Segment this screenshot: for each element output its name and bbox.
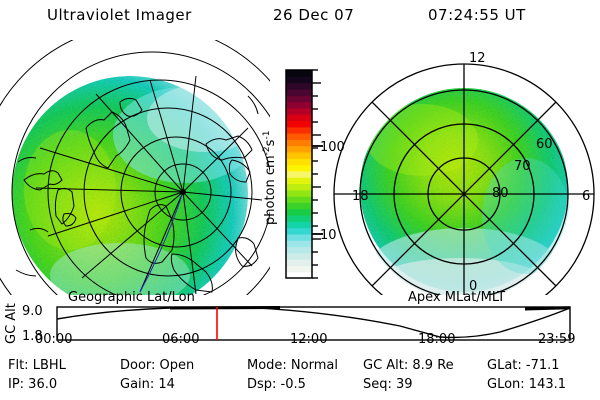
colorbar-unit-text: photon cm-2s-1: [262, 131, 278, 225]
orbit-track-highlight: [170, 308, 280, 309]
colorbar-swatch: [286, 196, 312, 203]
geographic-plot-svg: [0, 40, 270, 295]
time-tick-0600: 06:00: [162, 332, 199, 347]
status-readout: Flt: LBHL Door: Open Mode: Normal GC Alt…: [0, 356, 600, 400]
time-tick-2359: 23:59: [538, 332, 575, 347]
status-dsp: Dsp: -0.5: [247, 377, 306, 392]
observation-time: 07:24:55 UT: [428, 6, 526, 24]
colorbar-swatch: [286, 265, 312, 272]
colorbar-swatch: [286, 152, 312, 159]
colorbar-swatch: [286, 102, 312, 109]
colorbar-swatch: [286, 83, 312, 90]
colorbar-swatch: [286, 190, 312, 197]
colorbar-swatch: [286, 95, 312, 102]
mlt-label-6: 6: [582, 189, 590, 204]
time-tick-1200: 12:00: [290, 332, 327, 347]
apex-plot-svg: 12 6 0 18 60 70 80: [330, 40, 600, 295]
colorbar-swatch: [286, 259, 312, 266]
colorbar-swatch: [286, 76, 312, 83]
colorbar-swatch: [286, 177, 312, 184]
time-tick-0000: 00:00: [35, 332, 72, 347]
mlat-label-60: 60: [536, 137, 553, 152]
colorbar-swatch: [286, 114, 312, 121]
aurora-emission-layer: [12, 76, 263, 295]
instrument-title: Ultraviolet Imager: [47, 6, 192, 24]
colorbar-swatch: [286, 158, 312, 165]
mlt-label-18: 18: [352, 189, 369, 204]
colorbar-swatch: [286, 240, 312, 247]
colorbar-swatch: [286, 127, 312, 134]
colorbar-swatch: [286, 202, 312, 209]
status-ip: IP: 36.0: [8, 377, 57, 392]
status-mode: Mode: Normal: [247, 358, 338, 373]
status-glat: GLat: -71.1: [487, 358, 560, 373]
colorbar-swatch: [286, 171, 312, 178]
colorbar-swatch: [286, 234, 312, 241]
orbit-right-caption: Apex MLat/MLT: [408, 290, 505, 305]
colorbar-ticks: [312, 70, 323, 278]
colorbar-axis-label: photon cm-2s-1: [262, 131, 278, 225]
colorbar-swatch: [286, 89, 312, 96]
colorbar-swatch: [286, 246, 312, 253]
observation-date: 26 Dec 07: [273, 6, 354, 24]
apex-mlat-mlt-dial[interactable]: 12 6 0 18 60 70 80: [330, 40, 600, 295]
ultraviolet-imager-window: Ultraviolet Imager 26 Dec 07 07:24:55 UT: [0, 0, 600, 400]
colorbar-swatch: [286, 209, 312, 216]
status-door: Door: Open: [120, 358, 194, 373]
colorbar-swatch: [286, 228, 312, 235]
status-seq: Seq: 39: [363, 377, 413, 392]
status-row: Flt: LBHL Door: Open Mode: Normal GC Alt…: [0, 358, 600, 377]
colorbar-swatch: [286, 70, 312, 77]
colorbar-swatch: [286, 133, 312, 140]
orbit-y-axis-label: GC Alt: [4, 303, 19, 344]
colorbar-swatch: [286, 183, 312, 190]
colorbar-swatch: [286, 165, 312, 172]
status-flt: Flt: LBHL: [8, 358, 66, 373]
mlat-label-70: 70: [514, 159, 531, 174]
orbit-track-highlight-2: [525, 308, 570, 309]
subsatellite-point: [180, 189, 186, 195]
colorbar-swatch: [286, 120, 312, 127]
orbit-y-tick-high: 9.0: [22, 304, 43, 319]
mlat-label-80: 80: [492, 186, 509, 201]
status-glon: GLon: 143.1: [487, 377, 566, 392]
colorbar-swatch: [286, 215, 312, 222]
colorbar-swatch: [286, 253, 312, 260]
geographic-aurora-image[interactable]: [0, 40, 270, 295]
colorbar-swatch: [286, 221, 312, 228]
orbit-left-caption: Geographic Lat/Lon: [68, 290, 195, 305]
status-row: IP: 36.0 Gain: 14 Dsp: -0.5 Seq: 39 GLon…: [0, 377, 600, 396]
colorbar-swatch: [286, 146, 312, 153]
status-gain: Gain: 14: [120, 377, 175, 392]
colorbar-swatch: [286, 139, 312, 146]
colorbar-gradient: [286, 70, 312, 279]
status-gc-alt: GC Alt: 8.9 Re: [363, 358, 454, 373]
time-tick-1800: 18:00: [418, 332, 455, 347]
orbit-altitude-plot[interactable]: GC Alt 9.0 1.8 Geographic Lat/Lon Apex M…: [0, 292, 600, 354]
mlt-label-12: 12: [469, 51, 486, 66]
colorbar-swatch: [286, 108, 312, 115]
